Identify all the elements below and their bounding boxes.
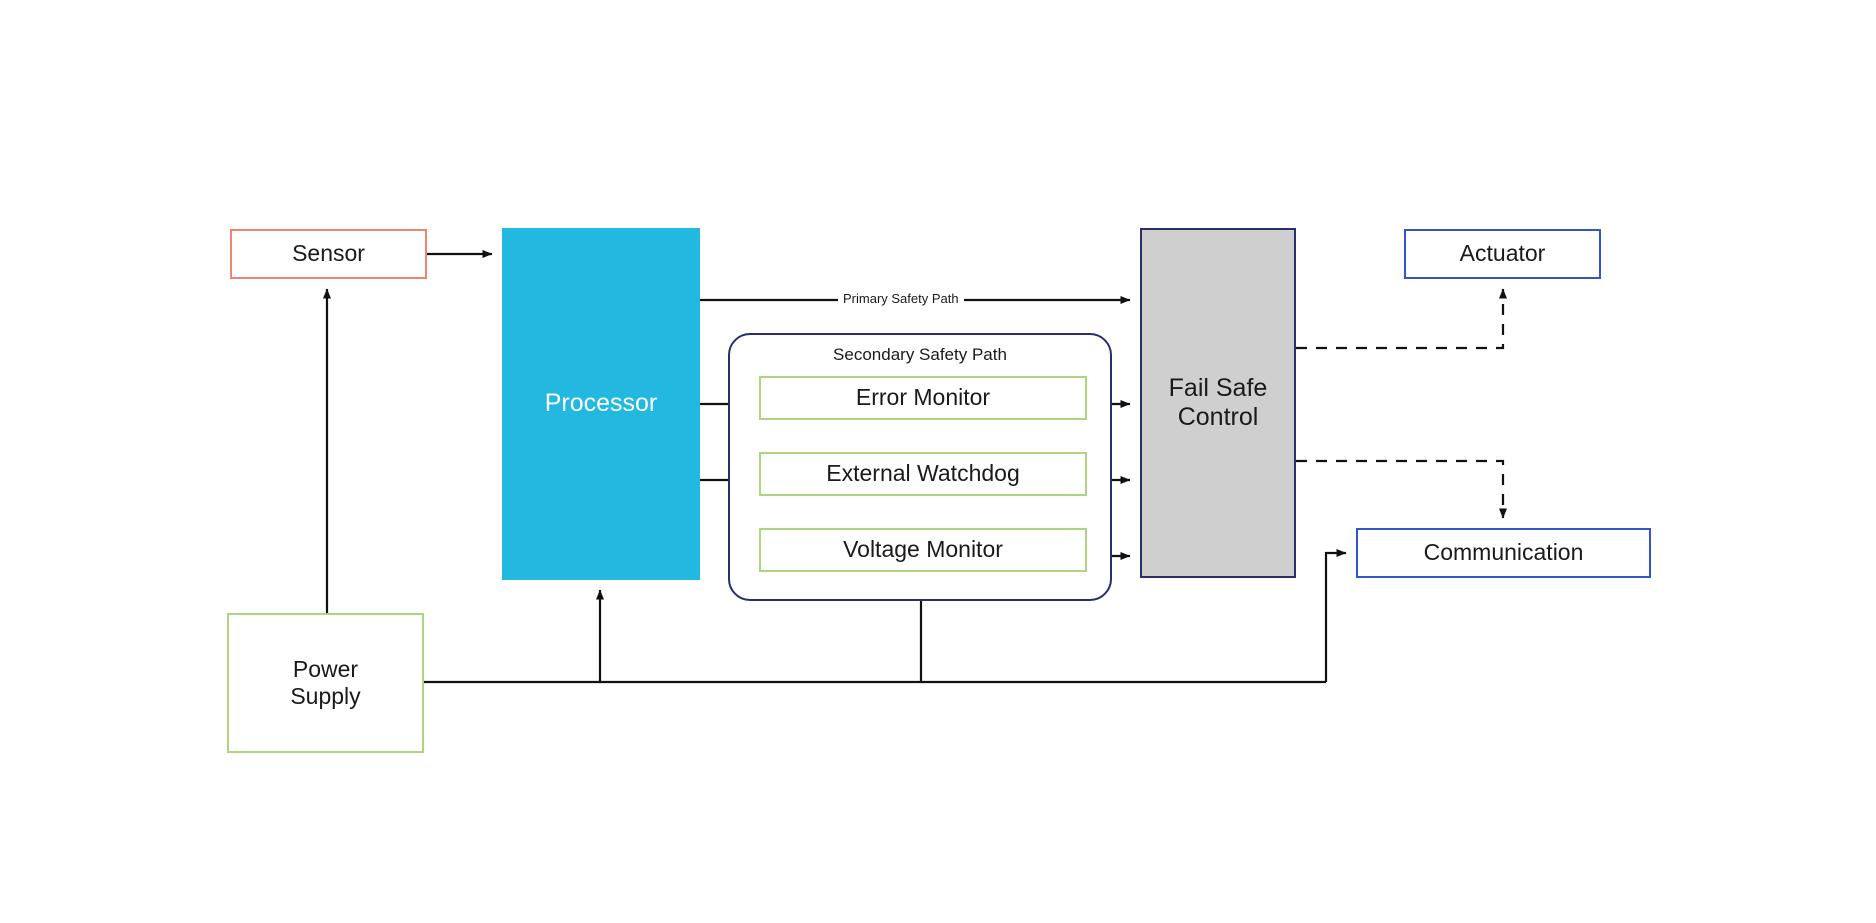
node-voltage-monitor[interactable]: Voltage Monitor <box>759 528 1087 572</box>
node-error-monitor-label: Error Monitor <box>856 384 990 411</box>
node-fail-safe-control-label-line2: Control <box>1178 403 1259 433</box>
node-fail-safe-control-label-line1: Fail Safe <box>1169 374 1268 404</box>
node-error-monitor[interactable]: Error Monitor <box>759 376 1087 420</box>
node-sensor[interactable]: Sensor <box>230 229 427 279</box>
edge-label-primary-safety-path: Primary Safety Path <box>838 291 964 306</box>
node-actuator[interactable]: Actuator <box>1404 229 1601 279</box>
edge-power-to-communication <box>1326 553 1346 682</box>
node-voltage-monitor-label: Voltage Monitor <box>843 536 1003 563</box>
group-secondary-safety-path[interactable]: Secondary Safety Path Error Monitor Exte… <box>728 333 1112 601</box>
diagram-canvas: Sensor Processor Secondary Safety Path E… <box>0 0 1876 923</box>
node-actuator-label: Actuator <box>1460 240 1546 267</box>
node-external-watchdog-label: External Watchdog <box>826 460 1019 487</box>
node-power-supply-label-line1: Power <box>293 656 358 683</box>
edge-failsafe-to-actuator <box>1296 289 1503 348</box>
node-external-watchdog[interactable]: External Watchdog <box>759 452 1087 496</box>
edge-failsafe-to-communication <box>1296 461 1503 518</box>
node-communication[interactable]: Communication <box>1356 528 1651 578</box>
node-power-supply[interactable]: Power Supply <box>227 613 424 753</box>
node-processor[interactable]: Processor <box>502 228 700 580</box>
node-processor-label: Processor <box>545 389 658 419</box>
node-sensor-label: Sensor <box>292 240 365 267</box>
node-communication-label: Communication <box>1424 539 1584 566</box>
node-power-supply-label-line2: Supply <box>290 683 360 710</box>
node-fail-safe-control[interactable]: Fail Safe Control <box>1140 228 1296 578</box>
group-secondary-safety-path-label: Secondary Safety Path <box>730 345 1110 365</box>
